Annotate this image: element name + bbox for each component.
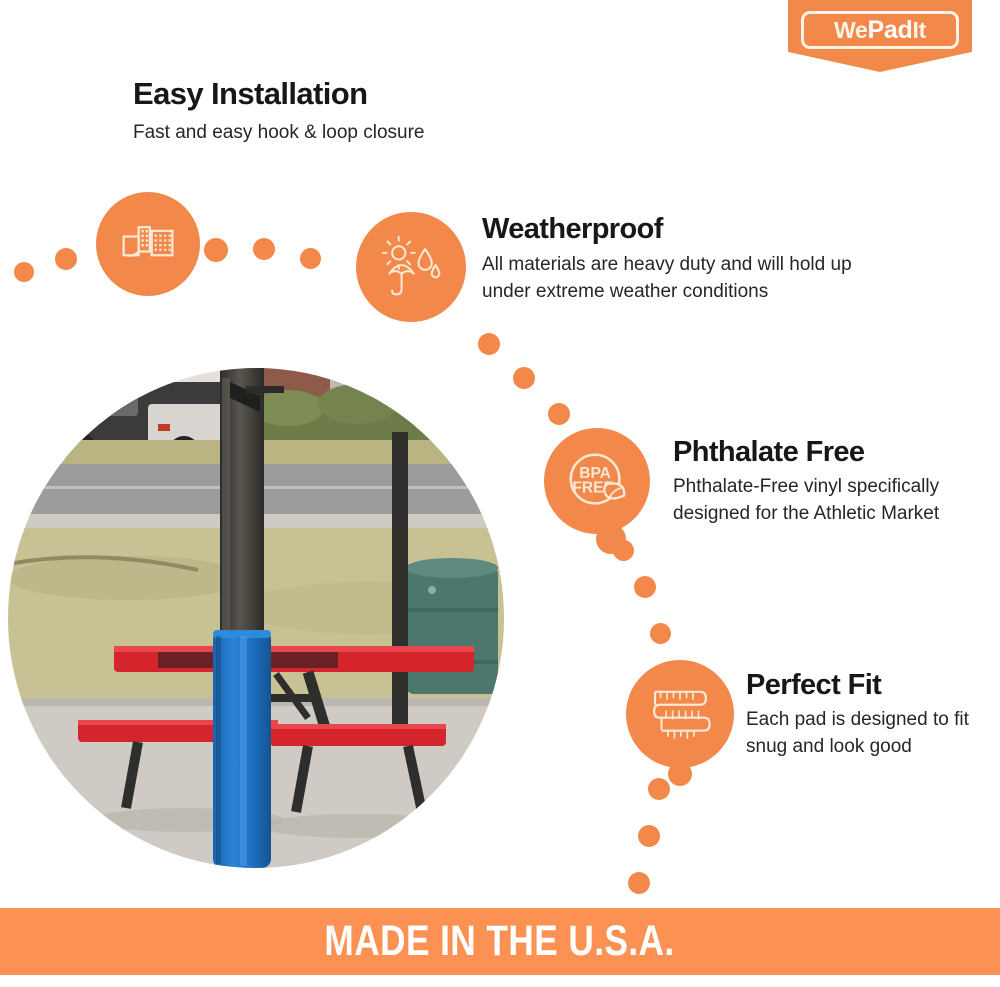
made-in-usa-text: MADE IN THE U.S.A. [325, 920, 675, 963]
path-dot [55, 248, 77, 270]
path-dot [300, 248, 321, 269]
path-dot [513, 367, 535, 389]
path-dot [478, 333, 500, 355]
path-dot [253, 238, 275, 260]
feature-description-phthalate-free: Phthalate-Free vinyl specifically design… [673, 474, 983, 528]
perfect-fit-icon-accent-blob [668, 762, 692, 786]
feature-title-weatherproof: Weatherproof [482, 214, 902, 244]
feature-description-perfect-fit: Each pad is designed to fit snug and loo… [746, 707, 986, 761]
feature-title-easy-installation: Easy Installation [133, 78, 563, 111]
path-dot [14, 262, 34, 282]
sun-umbrella-rain-icon [356, 212, 466, 322]
infographic-page: WePadIt Easy Installation Fast and easy … [0, 0, 1000, 987]
path-dot [628, 872, 650, 894]
feature-block-perfect-fit: Perfect Fit Each pad is designed to fit … [746, 670, 986, 761]
feature-title-perfect-fit: Perfect Fit [746, 670, 986, 700]
feature-block-weatherproof: Weatherproof All materials are heavy dut… [482, 214, 902, 306]
bpa-free-leaf-icon: BPA FREE [544, 428, 650, 534]
logo-text-pad: Pad [868, 18, 913, 43]
path-dot [650, 623, 671, 644]
product-photo [8, 368, 504, 868]
path-dot [634, 576, 656, 598]
feature-description-easy-installation: Fast and easy hook & loop closure [133, 120, 563, 147]
feature-block-phthalate-free: Phthalate Free Phthalate-Free vinyl spec… [673, 437, 983, 528]
path-dot [548, 403, 570, 425]
hook-and-loop-icon [96, 192, 200, 296]
logo-text-we: We [834, 19, 868, 42]
logo-frame: WePadIt [801, 11, 959, 49]
path-dot [613, 540, 634, 561]
logo-text-it: It [913, 19, 926, 42]
feature-block-easy-installation: Easy Installation Fast and easy hook & l… [133, 78, 563, 147]
brand-logo: WePadIt [788, 0, 972, 72]
feature-description-weatherproof: All materials are heavy duty and will ho… [482, 252, 902, 306]
made-in-usa-banner: MADE IN THE U.S.A. [0, 908, 1000, 975]
path-dot [638, 825, 660, 847]
path-dot [648, 778, 670, 800]
feature-title-phthalate-free: Phthalate Free [673, 437, 983, 467]
path-dot [204, 238, 228, 262]
measuring-tape-icon [626, 660, 734, 768]
